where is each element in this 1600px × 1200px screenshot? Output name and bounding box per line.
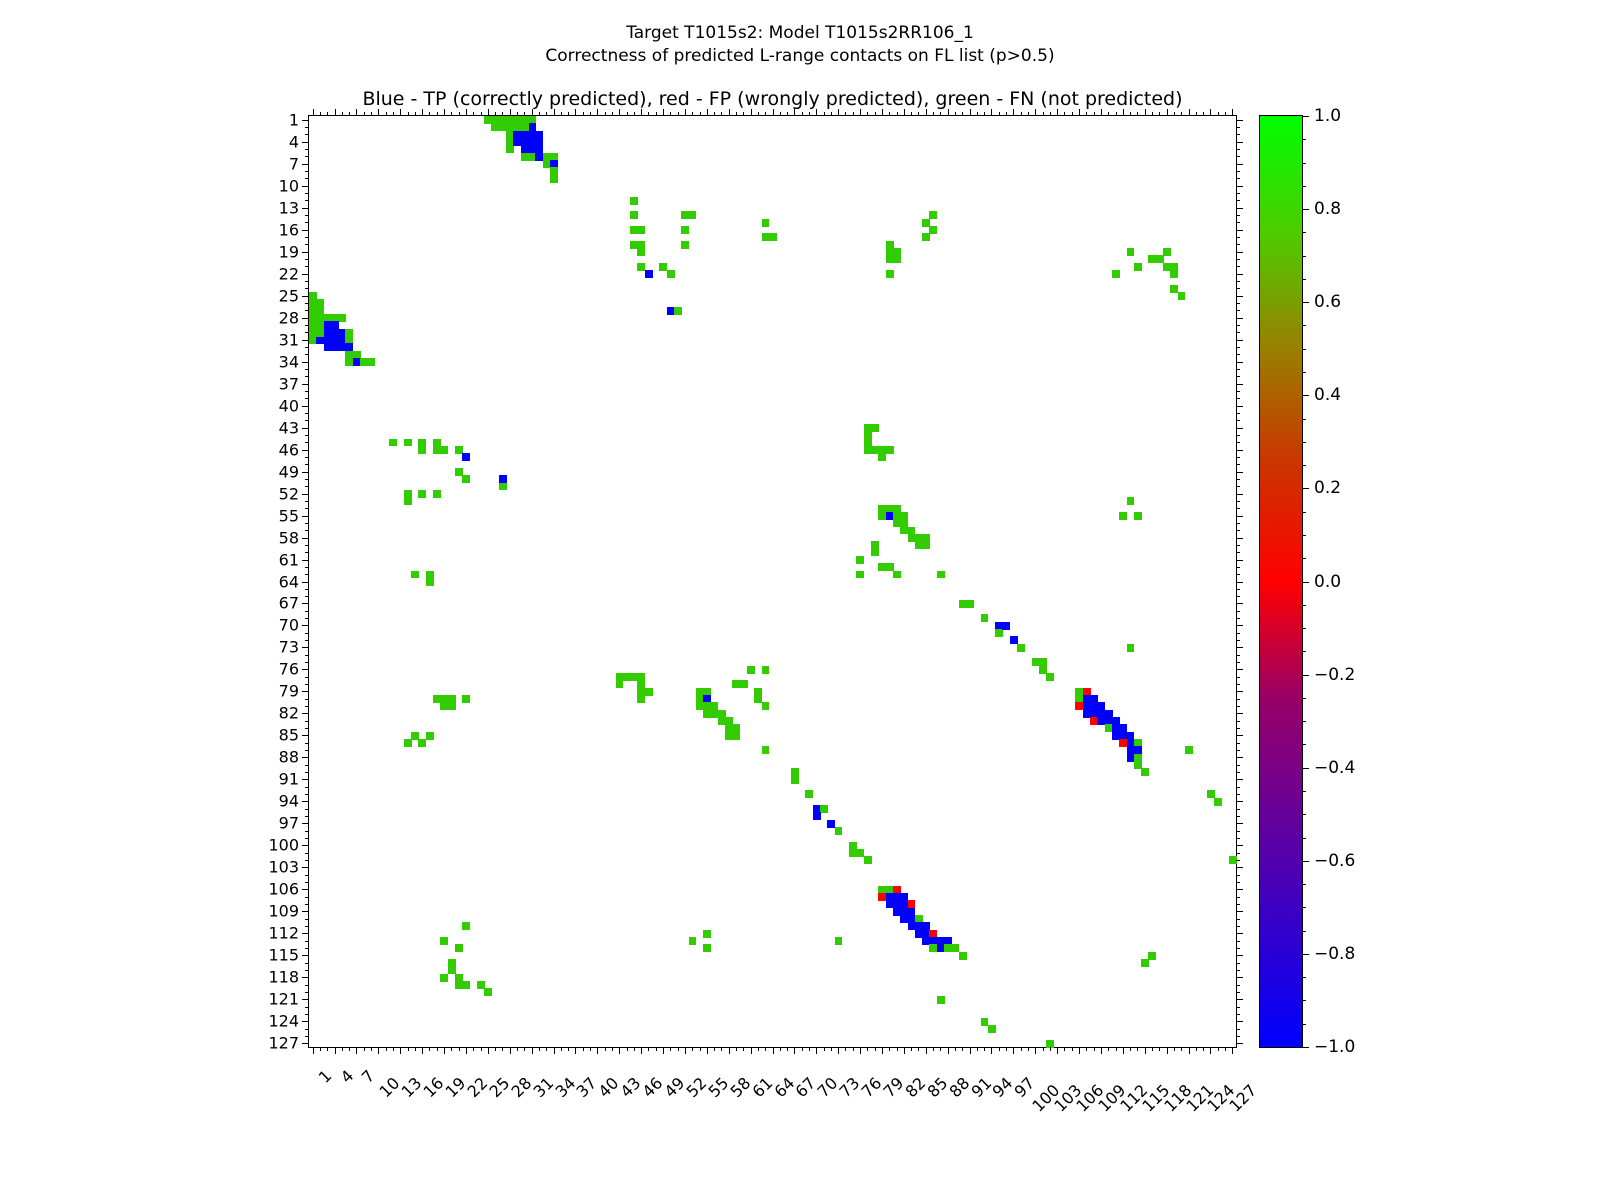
x-tick bbox=[889, 1047, 890, 1051]
y-tick bbox=[302, 867, 309, 868]
y-tick-right bbox=[1236, 486, 1240, 487]
contact-cell-fn bbox=[886, 270, 894, 278]
colorbar-minor-tick bbox=[1302, 814, 1306, 815]
x-tick-top bbox=[1006, 112, 1007, 116]
y-tick-right bbox=[1236, 596, 1240, 597]
y-tick-right bbox=[1236, 266, 1240, 267]
y-tick-right bbox=[1236, 765, 1240, 766]
y-tick-label: 13 bbox=[279, 198, 299, 217]
contact-cell-fn bbox=[367, 358, 375, 366]
y-tick bbox=[305, 684, 309, 685]
y-tick bbox=[302, 164, 309, 165]
x-tick bbox=[1013, 1047, 1014, 1054]
x-tick bbox=[517, 1047, 518, 1051]
x-tick-top bbox=[889, 112, 890, 116]
x-tick-top bbox=[400, 109, 401, 116]
colorbar-minor-tick bbox=[1302, 977, 1306, 978]
x-tick bbox=[349, 1047, 350, 1051]
y-tick bbox=[305, 398, 309, 399]
y-tick-label: 94 bbox=[279, 792, 299, 811]
x-tick bbox=[765, 1047, 766, 1051]
x-tick-top bbox=[1123, 109, 1124, 116]
contact-cell-fn bbox=[1148, 952, 1156, 960]
y-tick-right bbox=[1236, 222, 1240, 223]
y-tick-right bbox=[1236, 347, 1240, 348]
x-tick-top bbox=[1189, 109, 1190, 116]
y-tick-right bbox=[1236, 625, 1243, 626]
y-tick-right bbox=[1236, 611, 1240, 612]
x-tick bbox=[1043, 1047, 1044, 1051]
x-tick bbox=[371, 1047, 372, 1051]
x-tick bbox=[1130, 1047, 1131, 1051]
y-tick-label: 82 bbox=[279, 704, 299, 723]
x-tick bbox=[685, 1047, 686, 1054]
x-tick-top bbox=[502, 112, 503, 116]
x-tick bbox=[554, 1047, 555, 1054]
y-tick-right bbox=[1236, 845, 1243, 846]
x-tick-top bbox=[546, 112, 547, 116]
x-tick bbox=[729, 1047, 730, 1054]
y-tick bbox=[302, 450, 309, 451]
contact-cell-fn bbox=[762, 666, 770, 674]
x-tick-top bbox=[648, 112, 649, 116]
contact-cell-fn bbox=[929, 226, 937, 234]
x-tick bbox=[787, 1047, 788, 1051]
x-tick-top bbox=[940, 112, 941, 116]
contact-cell-fn bbox=[689, 211, 697, 219]
contact-cell-fn bbox=[732, 732, 740, 740]
y-tick bbox=[305, 479, 309, 480]
y-tick-label: 61 bbox=[279, 550, 299, 569]
y-tick bbox=[305, 633, 309, 634]
x-tick bbox=[1072, 1047, 1073, 1051]
y-tick bbox=[305, 816, 309, 817]
contact-cell-fn bbox=[1141, 959, 1149, 967]
y-tick bbox=[305, 171, 309, 172]
x-tick-top bbox=[1130, 112, 1131, 116]
y-tick-right bbox=[1236, 882, 1240, 883]
colorbar-tick-label: 0.0 bbox=[1314, 572, 1341, 592]
x-tick-top bbox=[918, 112, 919, 116]
y-tick-label: 16 bbox=[279, 220, 299, 239]
contact-cell-fn bbox=[404, 439, 412, 447]
x-tick bbox=[634, 1047, 635, 1051]
contact-cell-fn bbox=[703, 930, 711, 938]
y-tick-right bbox=[1236, 750, 1240, 751]
x-tick-top bbox=[1167, 109, 1168, 116]
x-tick bbox=[991, 1047, 992, 1054]
colorbar-minor-tick bbox=[1302, 372, 1306, 373]
y-tick bbox=[305, 809, 309, 810]
x-tick bbox=[1108, 1047, 1109, 1051]
y-tick-right bbox=[1236, 875, 1240, 876]
contact-cell-fn bbox=[1170, 270, 1178, 278]
x-tick bbox=[860, 1047, 861, 1054]
x-tick bbox=[970, 1047, 971, 1054]
contact-cell-fn bbox=[433, 490, 441, 498]
y-tick-right bbox=[1236, 560, 1243, 561]
y-tick bbox=[305, 237, 309, 238]
contact-cell-fn bbox=[1134, 263, 1142, 271]
x-tick bbox=[794, 1047, 795, 1054]
y-tick-right bbox=[1236, 699, 1240, 700]
contact-cell-fn bbox=[740, 680, 748, 688]
y-tick-right bbox=[1236, 735, 1243, 736]
y-tick bbox=[302, 230, 309, 231]
contact-cell-fn bbox=[703, 944, 711, 952]
x-tick-top bbox=[1072, 112, 1073, 116]
colorbar-minor-tick bbox=[1302, 535, 1306, 536]
x-tick-top bbox=[510, 109, 511, 116]
x-tick bbox=[459, 1047, 460, 1051]
x-tick bbox=[408, 1047, 409, 1051]
x-tick bbox=[831, 1047, 832, 1051]
y-tick-label: 115 bbox=[268, 946, 299, 965]
y-tick-right bbox=[1236, 413, 1240, 414]
x-tick-top bbox=[517, 112, 518, 116]
x-tick bbox=[1137, 1047, 1138, 1051]
y-tick-right bbox=[1236, 779, 1243, 780]
x-tick bbox=[1006, 1047, 1007, 1051]
y-tick-right bbox=[1236, 677, 1240, 678]
y-tick-label: 106 bbox=[268, 880, 299, 899]
x-tick bbox=[473, 1047, 474, 1051]
y-tick-right bbox=[1236, 244, 1240, 245]
y-tick bbox=[305, 721, 309, 722]
contact-cell-fn bbox=[404, 739, 412, 747]
colorbar-tick-label: −0.2 bbox=[1314, 665, 1355, 685]
colorbar-tick bbox=[1302, 116, 1309, 117]
y-tick-right bbox=[1236, 142, 1243, 143]
contact-cell-tp bbox=[462, 453, 470, 461]
y-tick bbox=[305, 750, 309, 751]
y-tick bbox=[305, 1014, 309, 1015]
x-tick-top bbox=[962, 112, 963, 116]
x-tick-top bbox=[875, 112, 876, 116]
contact-cell-fn bbox=[856, 571, 864, 579]
y-tick-right bbox=[1236, 567, 1240, 568]
x-tick bbox=[904, 1047, 905, 1054]
x-tick-top bbox=[335, 109, 336, 116]
x-tick bbox=[400, 1047, 401, 1054]
colorbar-minor-tick bbox=[1302, 419, 1306, 420]
x-tick bbox=[444, 1047, 445, 1054]
colorbar-minor-tick bbox=[1302, 163, 1306, 164]
contact-cell-fn bbox=[1141, 768, 1149, 776]
x-tick bbox=[984, 1047, 985, 1051]
colorbar: 1.00.80.60.40.20.0−0.2−0.4−0.6−0.8−1.0 bbox=[1259, 115, 1303, 1048]
y-tick-label: 118 bbox=[268, 968, 299, 987]
x-tick bbox=[714, 1047, 715, 1051]
x-tick bbox=[590, 1047, 591, 1051]
x-tick-top bbox=[524, 112, 525, 116]
y-tick-right bbox=[1236, 472, 1243, 473]
y-tick-label: 70 bbox=[279, 616, 299, 635]
y-tick bbox=[305, 200, 309, 201]
colorbar-minor-tick bbox=[1302, 791, 1306, 792]
y-tick bbox=[305, 1036, 309, 1037]
y-tick bbox=[305, 589, 309, 590]
x-tick-top bbox=[1225, 112, 1226, 116]
colorbar-tick bbox=[1302, 395, 1309, 396]
x-tick-top bbox=[948, 109, 949, 116]
y-tick bbox=[302, 538, 309, 539]
x-tick bbox=[1028, 1047, 1029, 1051]
x-tick bbox=[875, 1047, 876, 1051]
colorbar-minor-tick bbox=[1302, 628, 1306, 629]
y-tick-right bbox=[1236, 464, 1240, 465]
contact-map-plot[interactable]: 1144771010131316161919222225252828313134… bbox=[308, 115, 1237, 1048]
colorbar-tick-label: −0.4 bbox=[1314, 758, 1355, 778]
x-tick bbox=[1189, 1047, 1190, 1054]
y-tick-right bbox=[1236, 120, 1243, 121]
x-tick bbox=[502, 1047, 503, 1051]
contact-cell-fn bbox=[484, 988, 492, 996]
figure-suptitle: Target T1015s2: Model T1015s2RR106_1 Cor… bbox=[0, 22, 1600, 68]
y-tick bbox=[302, 296, 309, 297]
y-tick-right bbox=[1236, 867, 1243, 868]
y-tick-right bbox=[1236, 501, 1240, 502]
y-tick bbox=[305, 677, 309, 678]
y-tick-right bbox=[1236, 134, 1240, 135]
y-tick bbox=[305, 1007, 309, 1008]
y-tick bbox=[305, 596, 309, 597]
x-tick-top bbox=[1181, 112, 1182, 116]
contact-cell-fn bbox=[404, 497, 412, 505]
contact-cell-fn bbox=[637, 226, 645, 234]
colorbar-minor-tick bbox=[1302, 442, 1306, 443]
y-tick-right bbox=[1236, 332, 1240, 333]
x-tick-top bbox=[984, 112, 985, 116]
y-tick-right bbox=[1236, 296, 1243, 297]
contact-cell-fn bbox=[1112, 270, 1120, 278]
colorbar-minor-tick bbox=[1302, 232, 1306, 233]
y-tick bbox=[302, 384, 309, 385]
x-tick-top bbox=[831, 112, 832, 116]
y-tick bbox=[302, 516, 309, 517]
colorbar-minor-tick bbox=[1302, 186, 1306, 187]
contact-cell-fn bbox=[1127, 497, 1135, 505]
y-tick-label: 85 bbox=[279, 726, 299, 745]
x-tick-top bbox=[991, 109, 992, 116]
x-tick-top bbox=[692, 112, 693, 116]
colorbar-tick bbox=[1302, 488, 1309, 489]
y-tick-right bbox=[1236, 303, 1240, 304]
colorbar-tick-label: 0.6 bbox=[1314, 292, 1341, 312]
y-tick bbox=[305, 875, 309, 876]
contact-cell-fn bbox=[791, 776, 799, 784]
y-tick-right bbox=[1236, 1021, 1243, 1022]
contact-cell-fn bbox=[681, 226, 689, 234]
contact-cell-fn bbox=[966, 600, 974, 608]
x-tick bbox=[386, 1047, 387, 1051]
contact-cell-fn bbox=[448, 702, 456, 710]
x-tick-top bbox=[685, 109, 686, 116]
y-tick-right bbox=[1236, 655, 1240, 656]
x-tick-top bbox=[422, 109, 423, 116]
contact-cell-fn bbox=[630, 197, 638, 205]
x-tick bbox=[619, 1047, 620, 1054]
x-tick-top bbox=[481, 112, 482, 116]
x-tick bbox=[451, 1047, 452, 1051]
x-tick bbox=[824, 1047, 825, 1051]
y-tick-label: 124 bbox=[268, 1012, 299, 1031]
y-tick bbox=[302, 406, 309, 407]
contact-cell-fn bbox=[878, 453, 886, 461]
y-tick-right bbox=[1236, 992, 1240, 993]
y-tick-right bbox=[1236, 435, 1240, 436]
y-tick-right bbox=[1236, 823, 1243, 824]
x-tick bbox=[641, 1047, 642, 1054]
y-tick bbox=[305, 508, 309, 509]
colorbar-minor-tick bbox=[1302, 744, 1306, 745]
y-tick bbox=[305, 354, 309, 355]
x-tick bbox=[1094, 1047, 1095, 1051]
colorbar-minor-tick bbox=[1302, 884, 1306, 885]
contact-cell-fn bbox=[681, 241, 689, 249]
x-tick bbox=[940, 1047, 941, 1051]
contact-cell-fn bbox=[426, 578, 434, 586]
y-tick-right bbox=[1236, 494, 1243, 495]
x-tick bbox=[612, 1047, 613, 1051]
y-tick-right bbox=[1236, 860, 1240, 861]
contact-cell-fn bbox=[440, 974, 448, 982]
colorbar-minor-tick bbox=[1302, 1024, 1306, 1025]
y-tick bbox=[305, 611, 309, 612]
x-tick bbox=[1123, 1047, 1124, 1054]
x-tick bbox=[1152, 1047, 1153, 1051]
contact-cell-fn bbox=[645, 688, 653, 696]
y-tick-right bbox=[1236, 149, 1240, 150]
contact-cell-fn bbox=[1134, 512, 1142, 520]
y-tick-right bbox=[1236, 713, 1243, 714]
x-tick-top bbox=[845, 112, 846, 116]
x-tick-top bbox=[700, 112, 701, 116]
x-tick-top bbox=[656, 112, 657, 116]
colorbar-minor-tick bbox=[1302, 931, 1306, 932]
contact-map-cells bbox=[309, 116, 1236, 1047]
y-tick bbox=[305, 963, 309, 964]
suptitle-line-1: Target T1015s2: Model T1015s2RR106_1 bbox=[0, 22, 1600, 45]
x-tick bbox=[429, 1047, 430, 1051]
y-tick bbox=[302, 340, 309, 341]
y-tick-label: 97 bbox=[279, 814, 299, 833]
y-tick bbox=[302, 823, 309, 824]
x-tick bbox=[1218, 1047, 1219, 1051]
x-tick bbox=[1086, 1047, 1087, 1051]
y-tick-right bbox=[1236, 728, 1240, 729]
y-tick-right bbox=[1236, 926, 1240, 927]
colorbar-minor-tick bbox=[1302, 838, 1306, 839]
y-tick-right bbox=[1236, 420, 1240, 421]
y-tick-right bbox=[1236, 838, 1240, 839]
x-tick bbox=[948, 1047, 949, 1054]
y-tick bbox=[305, 699, 309, 700]
x-tick-top bbox=[1145, 109, 1146, 116]
x-tick-top bbox=[999, 112, 1000, 116]
y-tick bbox=[305, 391, 309, 392]
y-tick bbox=[302, 318, 309, 319]
contact-cell-fn bbox=[1127, 644, 1135, 652]
contact-cell-fn bbox=[426, 732, 434, 740]
y-tick-right bbox=[1236, 691, 1243, 692]
x-tick-top bbox=[911, 112, 912, 116]
x-tick-top bbox=[758, 112, 759, 116]
x-tick bbox=[1116, 1047, 1117, 1051]
x-tick bbox=[583, 1047, 584, 1051]
y-tick bbox=[302, 208, 309, 209]
y-tick-right bbox=[1236, 230, 1243, 231]
y-tick bbox=[302, 142, 309, 143]
x-tick bbox=[313, 1047, 314, 1054]
x-tick-top bbox=[970, 109, 971, 116]
y-tick-right bbox=[1236, 933, 1243, 934]
colorbar-minor-tick bbox=[1302, 698, 1306, 699]
y-tick-label: 67 bbox=[279, 594, 299, 613]
y-tick bbox=[305, 706, 309, 707]
y-tick-right bbox=[1236, 1014, 1240, 1015]
y-tick-right bbox=[1236, 164, 1243, 165]
y-tick bbox=[305, 831, 309, 832]
y-tick-label: 28 bbox=[279, 308, 299, 327]
contact-cell-tp bbox=[645, 270, 653, 278]
x-tick-top bbox=[904, 109, 905, 116]
x-tick-top bbox=[1137, 112, 1138, 116]
x-tick bbox=[327, 1047, 328, 1051]
contact-cell-fn bbox=[616, 680, 624, 688]
y-tick-right bbox=[1236, 516, 1243, 517]
x-tick bbox=[495, 1047, 496, 1051]
contact-cell-fn bbox=[988, 1025, 996, 1033]
y-tick bbox=[302, 1043, 309, 1044]
y-tick bbox=[305, 838, 309, 839]
figure-canvas: Target T1015s2: Model T1015s2RR106_1 Cor… bbox=[0, 0, 1600, 1200]
x-tick-top bbox=[743, 112, 744, 116]
y-tick bbox=[302, 911, 309, 912]
x-tick-top bbox=[495, 112, 496, 116]
y-tick bbox=[302, 120, 309, 121]
x-tick bbox=[1167, 1047, 1168, 1054]
y-tick-right bbox=[1236, 369, 1240, 370]
contact-cell-fn bbox=[455, 944, 463, 952]
x-tick-top bbox=[1152, 112, 1153, 116]
y-tick-right bbox=[1236, 721, 1240, 722]
y-tick-right bbox=[1236, 354, 1240, 355]
x-tick bbox=[838, 1047, 839, 1054]
y-tick-right bbox=[1236, 552, 1240, 553]
y-tick bbox=[302, 999, 309, 1000]
contact-cell-fn bbox=[959, 952, 967, 960]
x-tick bbox=[561, 1047, 562, 1051]
x-tick bbox=[356, 1047, 357, 1054]
y-tick bbox=[305, 772, 309, 773]
x-tick-top bbox=[977, 112, 978, 116]
contact-cell-fn bbox=[871, 424, 879, 432]
y-tick bbox=[305, 1029, 309, 1030]
y-tick bbox=[305, 325, 309, 326]
x-tick-top bbox=[1094, 112, 1095, 116]
y-tick bbox=[302, 889, 309, 890]
x-tick bbox=[532, 1047, 533, 1054]
contact-cell-fn bbox=[440, 937, 448, 945]
y-tick-label: 58 bbox=[279, 528, 299, 547]
y-tick bbox=[305, 574, 309, 575]
x-tick bbox=[692, 1047, 693, 1051]
y-tick-label: 64 bbox=[279, 572, 299, 591]
x-tick bbox=[466, 1047, 467, 1054]
y-tick bbox=[302, 472, 309, 473]
x-tick bbox=[853, 1047, 854, 1051]
